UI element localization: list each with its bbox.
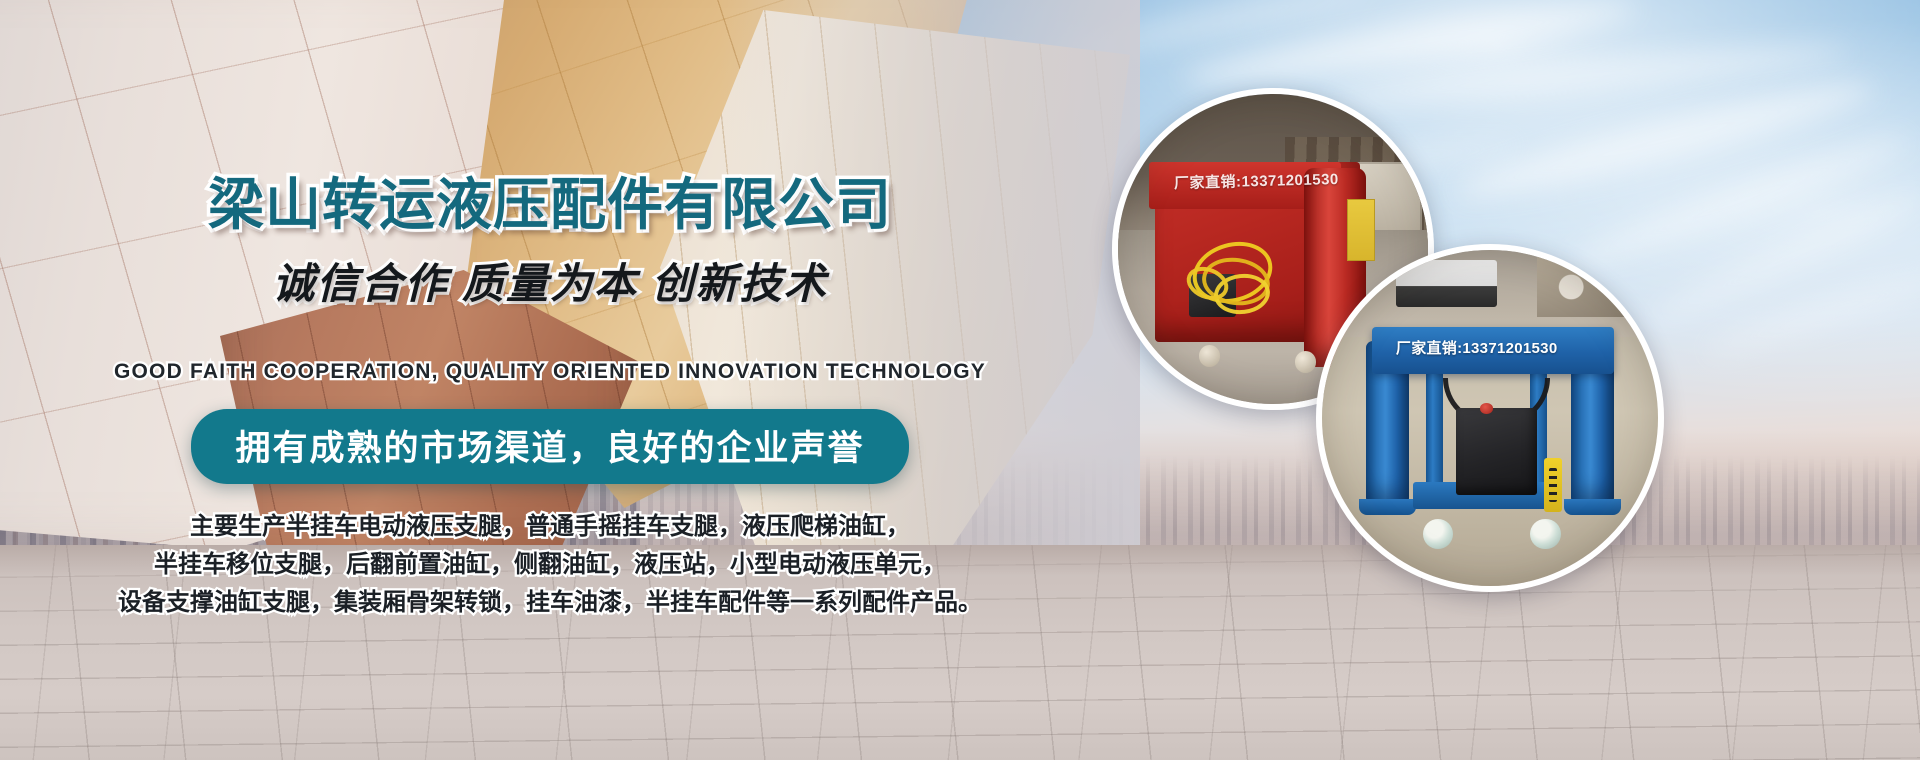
- company-title: 梁山转运液压配件有限公司: [0, 160, 1100, 241]
- highlight-pill-wrapper: 拥有成熟的市场渠道，良好的企业声誉: [0, 409, 1100, 484]
- photo-vignette: [1322, 250, 1658, 586]
- description-line: 半挂车移位支腿，后翻前置油缸，侧翻油缸，液压站，小型电动液压单元，: [0, 546, 1100, 584]
- highlight-pill: 拥有成熟的市场渠道，良好的企业声誉: [191, 409, 908, 484]
- slogan-chinese: 诚信合作 质量为本 创新技术: [0, 250, 1100, 311]
- description-line: 设备支撑油缸支腿，集装厢骨架转锁，挂车油漆，半挂车配件等一系列配件产品。: [0, 584, 1100, 622]
- slogan-english: GOOD FAITH COOPERATION, QUALITY ORIENTED…: [0, 360, 1100, 384]
- banner-text-block: 梁山转运液压配件有限公司 诚信合作 质量为本 创新技术 GOOD FAITH C…: [0, 0, 1100, 760]
- product-photo-blue[interactable]: 厂家直销:13371201530: [1316, 244, 1664, 592]
- description-line: 主要生产半挂车电动液压支腿，普通手摇挂车支腿，液压爬梯油缸，: [0, 508, 1100, 546]
- blue-machine-scene: 厂家直销:13371201530: [1322, 250, 1658, 586]
- product-description: 主要生产半挂车电动液压支腿，普通手摇挂车支腿，液压爬梯油缸， 半挂车移位支腿，后…: [0, 508, 1100, 622]
- hero-banner: 梁山转运液压配件有限公司 诚信合作 质量为本 创新技术 GOOD FAITH C…: [0, 0, 1920, 760]
